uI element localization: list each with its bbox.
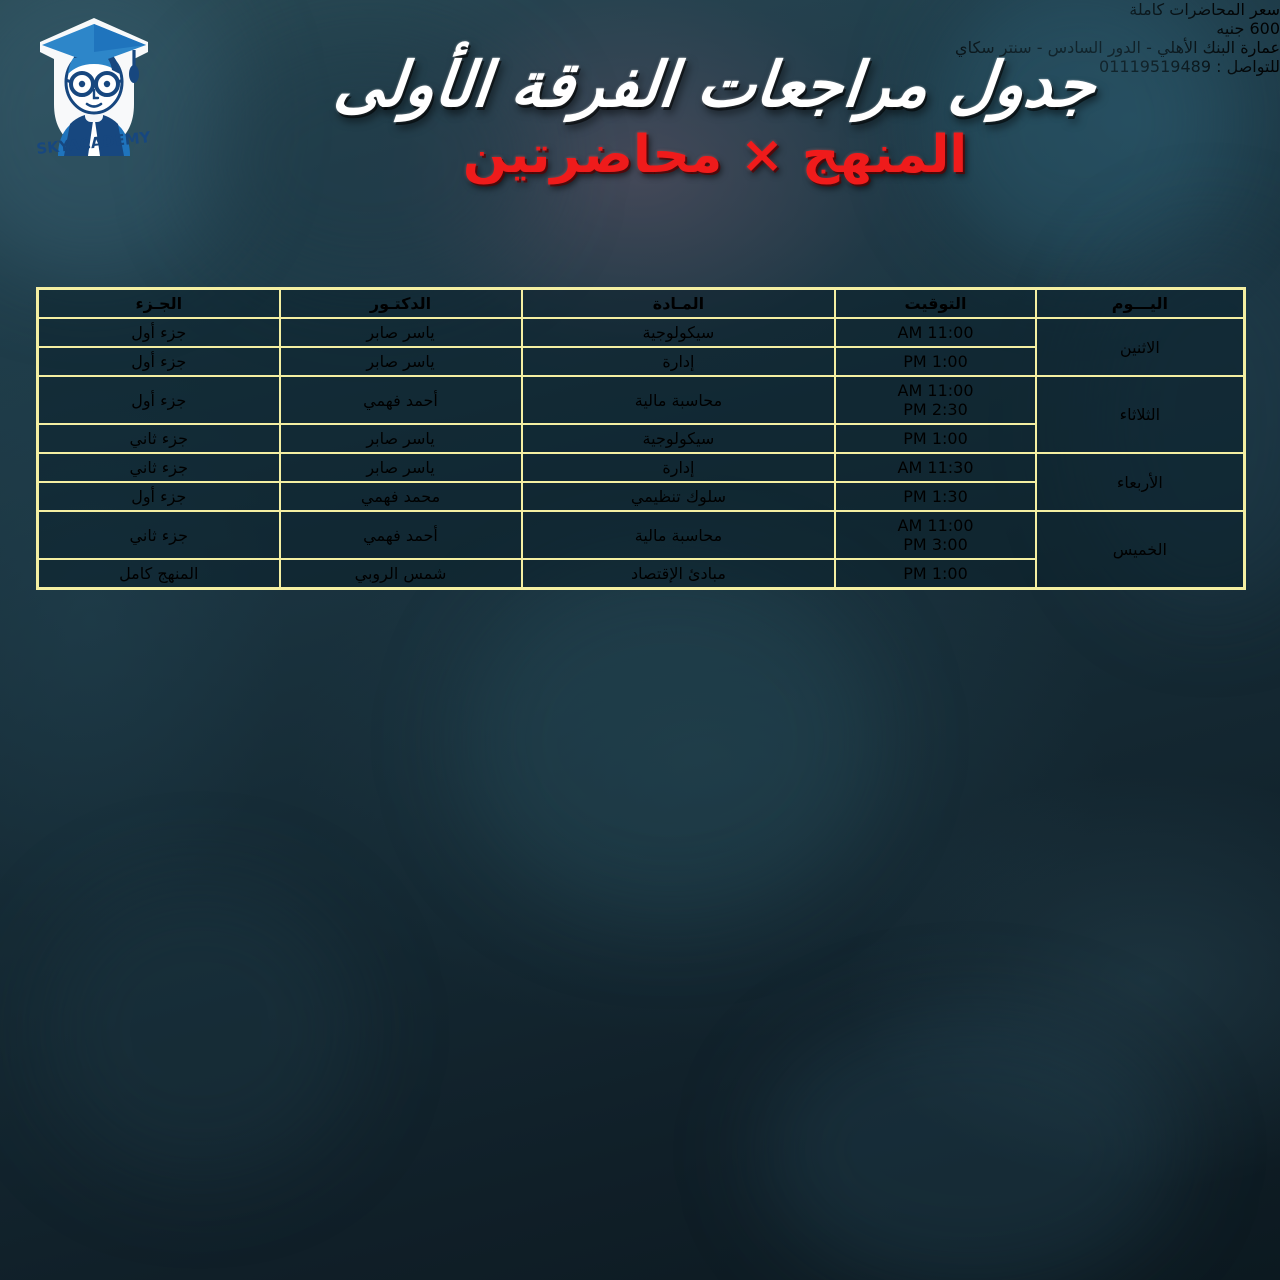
part-cell: المنهج كامل <box>38 559 280 589</box>
day-cell: الخميس <box>1036 511 1245 589</box>
time-cell: 1:00 PM <box>835 424 1035 453</box>
day-cell: الأربعاء <box>1036 453 1245 511</box>
part-cell: جزء ثاني <box>38 453 280 482</box>
time-cell: 1:30 PM <box>835 482 1035 511</box>
time-cell: 11:00 AM <box>835 318 1035 347</box>
time-cell: 11:00 AM3:00 PM <box>835 511 1035 559</box>
subject-cell: سيكولوجية <box>522 424 836 453</box>
subject-cell: إدارة <box>522 453 836 482</box>
doctor-cell: محمد فهمي <box>280 482 522 511</box>
poster-root: SKYACADEMY جدول مراجعات الفرقة الأولى ال… <box>0 0 1280 1280</box>
time-cell: 11:30 AM <box>835 453 1035 482</box>
doctor-cell: أحمد فهمي <box>280 511 522 559</box>
part-cell: جزء أول <box>38 347 280 376</box>
col-header-day: اليـــوم <box>1036 289 1245 319</box>
day-cell: الاثنين <box>1036 318 1245 376</box>
part-cell: جزء ثاني <box>38 511 280 559</box>
subject-cell: سلوك تنظيمي <box>522 482 836 511</box>
graduate-avatar-icon: SKYACADEMY <box>30 12 158 162</box>
doctor-cell: ياسر صابر <box>280 453 522 482</box>
doctor-cell: ياسر صابر <box>280 424 522 453</box>
col-header-subject: المـادة <box>522 289 836 319</box>
page-subtitle: المنهج × محاضرتين <box>170 127 1260 184</box>
part-cell: جزء أول <box>38 376 280 424</box>
title-block: جدول مراجعات الفرقة الأولى المنهج × محاض… <box>170 52 1260 184</box>
day-cell: الثلاثاء <box>1036 376 1245 453</box>
table-header-row: اليـــوم التوقيت المـادة الدكتـور الجـزء <box>38 289 1245 319</box>
doctor-cell: أحمد فهمي <box>280 376 522 424</box>
time-cell: 1:00 PM <box>835 347 1035 376</box>
col-header-part: الجـزء <box>38 289 280 319</box>
col-header-time: التوقيت <box>835 289 1035 319</box>
subject-cell: إدارة <box>522 347 836 376</box>
doctor-cell: ياسر صابر <box>280 347 522 376</box>
table-body: الاثنين11:00 AMسيكولوجيةياسر صابرجزء أول… <box>38 318 1245 589</box>
col-header-doctor: الدكتـور <box>280 289 522 319</box>
poster-header: SKYACADEMY جدول مراجعات الفرقة الأولى ال… <box>0 0 1280 272</box>
bg-blob-7 <box>760 1010 1180 1280</box>
subject-cell: سيكولوجية <box>522 318 836 347</box>
table-row: الثلاثاء11:00 AM2:30 PMمحاسبة ماليةأحمد … <box>38 376 1245 424</box>
schedule-table-wrap: اليـــوم التوقيت المـادة الدكتـور الجـزء… <box>36 287 1246 590</box>
subject-cell: محاسبة مالية <box>522 376 836 424</box>
doctor-cell: شمس الروبي <box>280 559 522 589</box>
table-row: الأربعاء11:30 AMإدارةياسر صابرجزء ثاني <box>38 453 1245 482</box>
table-head: اليـــوم التوقيت المـادة الدكتـور الجـزء <box>38 289 1245 319</box>
table-row: الخميس11:00 AM3:00 PMمحاسبة ماليةأحمد فه… <box>38 511 1245 559</box>
time-cell: 1:00 PM <box>835 559 1035 589</box>
logo: SKYACADEMY <box>30 12 158 162</box>
part-cell: جزء ثاني <box>38 424 280 453</box>
subject-cell: محاسبة مالية <box>522 511 836 559</box>
bg-blob-5 <box>460 560 880 920</box>
page-title: جدول مراجعات الفرقة الأولى <box>167 52 1264 117</box>
part-cell: جزء أول <box>38 318 280 347</box>
subject-cell: مبادئ الإقتصاد <box>522 559 836 589</box>
part-cell: جزء أول <box>38 482 280 511</box>
bg-blob-6 <box>40 880 360 1180</box>
schedule-table: اليـــوم التوقيت المـادة الدكتـور الجـزء… <box>36 287 1246 590</box>
table-row: الاثنين11:00 AMسيكولوجيةياسر صابرجزء أول <box>38 318 1245 347</box>
doctor-cell: ياسر صابر <box>280 318 522 347</box>
time-cell: 11:00 AM2:30 PM <box>835 376 1035 424</box>
